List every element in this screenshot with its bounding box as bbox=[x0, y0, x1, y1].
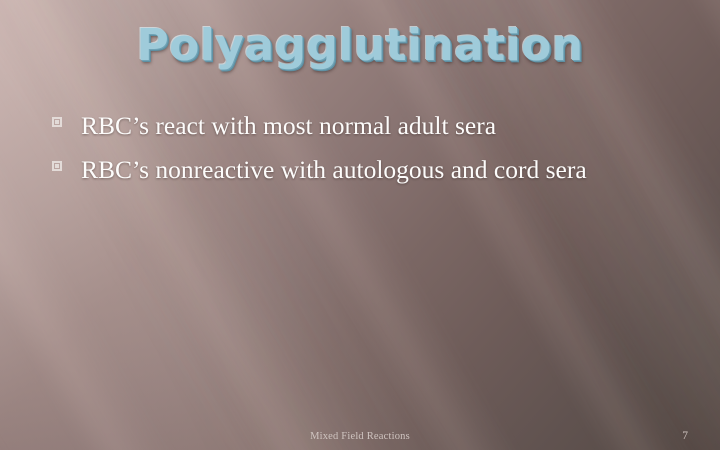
slide-title: Polyagglutination bbox=[0, 24, 720, 68]
list-item: RBC’s react with most normal adult sera bbox=[52, 106, 662, 146]
bullet-square-icon bbox=[52, 117, 62, 127]
bullet-square-icon bbox=[52, 161, 62, 171]
slide-footer: Mixed Field Reactions bbox=[0, 431, 720, 442]
bullet-text: RBC’s nonreactive with autologous and co… bbox=[81, 150, 662, 190]
list-item: RBC’s nonreactive with autologous and co… bbox=[52, 150, 662, 190]
slide-page-number: 7 bbox=[682, 430, 688, 442]
slide-canvas: Polyagglutination RBC’s react with most … bbox=[0, 0, 720, 450]
slide-body: RBC’s react with most normal adult sera … bbox=[52, 106, 662, 194]
bullet-text: RBC’s react with most normal adult sera bbox=[81, 106, 662, 146]
